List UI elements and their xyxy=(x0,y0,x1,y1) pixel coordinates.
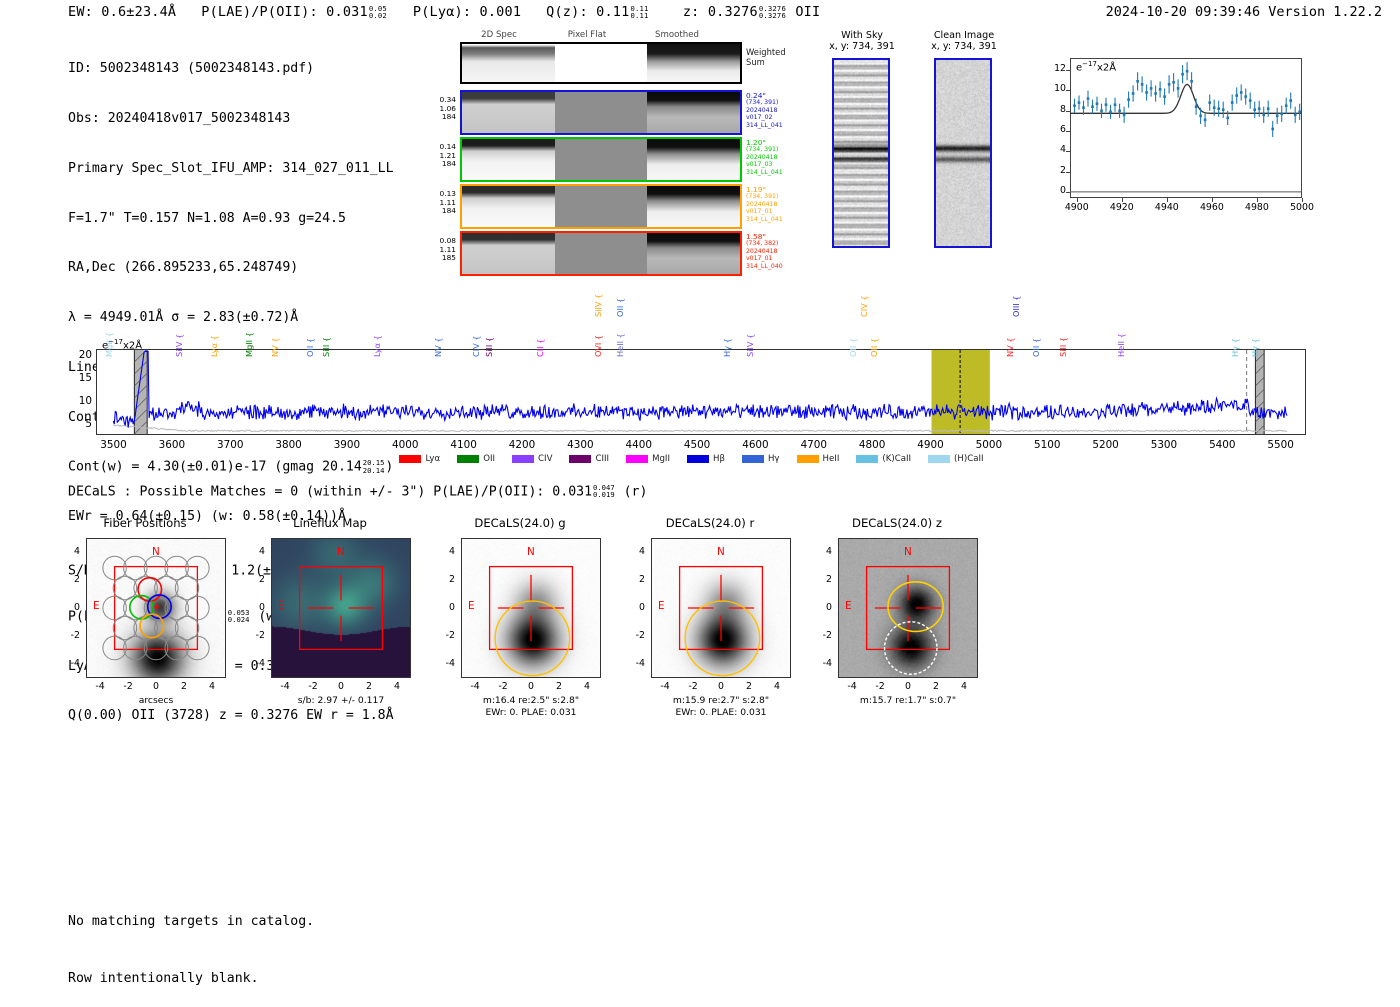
zoomplot-xtick: 4960 xyxy=(1192,202,1232,213)
spec2d-row-meta: 1.58"(734, 382)20240418v017_01314_LL_040 xyxy=(746,233,802,270)
zoomplot-ytick: 2 xyxy=(1040,165,1066,176)
legend-label: Lyα xyxy=(425,454,440,464)
spec2d-row-stats: 0.141.21184 xyxy=(428,143,456,169)
panel-caption-1: s/b: 2.97 +/- 0.117 xyxy=(246,695,436,706)
spec2d-row xyxy=(460,90,742,135)
clean-image xyxy=(936,60,990,246)
compass-east: E xyxy=(468,600,475,612)
spectrum-xtick: 4400 xyxy=(617,439,661,451)
spectrum-xtick: 5200 xyxy=(1084,439,1128,451)
legend-swatch xyxy=(626,455,648,463)
legend-label: OII xyxy=(483,454,495,464)
emission-line-label: NV { xyxy=(433,337,443,357)
legend-swatch xyxy=(457,455,479,463)
compass-north: N xyxy=(904,546,912,558)
panel-ytick: 2 xyxy=(64,574,80,585)
panel-caption-1: m:16.4 re:2.5" s:2.8" xyxy=(436,695,626,706)
legend-entry: CIV xyxy=(512,454,552,464)
panel-caption-2: EWr: 0. PLAE: 0.031 xyxy=(436,707,626,718)
compass-east: E xyxy=(845,600,852,612)
panel-xtick: 0 xyxy=(713,681,729,692)
emission-line-label: CIV { xyxy=(471,335,481,357)
spectrum-xtick: 3700 xyxy=(208,439,252,451)
zoomplot-xtick: 4900 xyxy=(1057,202,1097,213)
panel-ytick: 4 xyxy=(64,546,80,557)
emission-line-label: OIII { xyxy=(1011,295,1021,317)
legend-label: HeII xyxy=(823,454,840,464)
panel-xtick: 2 xyxy=(928,681,944,692)
info-primary-spec: Primary Spec_Slot_IFU_AMP: 314_027_011_L… xyxy=(68,161,394,178)
panel-title: DECaLS(24.0) g xyxy=(435,516,605,530)
panel-xtick: -2 xyxy=(872,681,888,692)
panel-image[interactable] xyxy=(651,538,791,678)
spectrum-xtick: 3600 xyxy=(150,439,194,451)
panel-xtick: -2 xyxy=(120,681,136,692)
header-plae-label: P(LAE)/P(OII): xyxy=(201,4,318,20)
emission-line-zoom-plot: e−17x2Å 02468101249004920494049604980500… xyxy=(1034,52,1306,228)
zoomplot-ytick: 12 xyxy=(1040,63,1066,74)
emission-line-label: SiII { xyxy=(321,337,331,357)
panel-overlay xyxy=(462,539,600,677)
panel-ytick: -2 xyxy=(629,630,645,641)
panel-image[interactable] xyxy=(461,538,601,678)
panel-ytick: -2 xyxy=(816,630,832,641)
compass-north: N xyxy=(152,546,160,558)
zoomplot-xtick: 4940 xyxy=(1147,202,1187,213)
zoomplot-ytick: 8 xyxy=(1040,104,1066,115)
emission-line-label: OII { xyxy=(615,298,625,317)
panel-xtick: 0 xyxy=(333,681,349,692)
col-header-smoothed: Smoothed xyxy=(638,30,716,40)
legend-swatch xyxy=(742,455,764,463)
spectrum-xtick: 3900 xyxy=(325,439,369,451)
panel-image[interactable] xyxy=(838,538,978,678)
panel-xtick: 4 xyxy=(956,681,972,692)
legend-swatch xyxy=(687,455,709,463)
spectrum-xtick: 4900 xyxy=(909,439,953,451)
spec2d-row-stats: 0.131.11184 xyxy=(428,190,456,216)
panel-xtick: -2 xyxy=(305,681,321,692)
emission-line-label: SiII { xyxy=(484,337,494,357)
spectrum-xtick: 4700 xyxy=(792,439,836,451)
panel-xtick: -4 xyxy=(657,681,673,692)
emission-line-label: OII { xyxy=(848,338,858,357)
info-obs: Obs: 20240418v017_5002348143 xyxy=(68,111,394,128)
compass-east: E xyxy=(93,600,100,612)
panel-xtick: 0 xyxy=(523,681,539,692)
emission-line-label: NV { xyxy=(270,337,280,357)
spec2d-row-meta: 1.20"(734, 391)20240418v017_03314_LL_041 xyxy=(746,139,802,176)
full-spectrum-plot: e−17x2Å MgII {SiIV {Lyα {MgII {NV {OII {… xyxy=(0,276,1400,472)
panel-ytick: 0 xyxy=(249,602,265,613)
legend-swatch xyxy=(797,455,819,463)
panel-xtick: 4 xyxy=(389,681,405,692)
panel-xtick: 4 xyxy=(769,681,785,692)
with-sky-title: With Sky xyxy=(818,30,906,41)
panel-xtick: -4 xyxy=(844,681,860,692)
panel-ytick: 4 xyxy=(439,546,455,557)
legend-label: CIII xyxy=(595,454,609,464)
header-plae-value: 0.031 xyxy=(326,4,368,20)
panel-ytick: 2 xyxy=(816,574,832,585)
panel-overlay xyxy=(87,539,225,677)
spectrum-xtick: 5300 xyxy=(1142,439,1186,451)
decals-matches-text: DECaLS : Possible Matches = 0 (within +/… xyxy=(68,484,592,499)
panel-image[interactable] xyxy=(86,538,226,678)
legend-entry: HeII xyxy=(797,454,840,464)
panel-overlay xyxy=(839,539,977,677)
weighted-sum-label: Weighted Sum xyxy=(746,48,800,67)
with-sky-image xyxy=(834,60,888,246)
panel-ytick: 4 xyxy=(629,546,645,557)
spectrum-xtick: 4100 xyxy=(442,439,486,451)
emission-line-label: SiII { xyxy=(1058,337,1068,357)
decals-panel-1: Lineflux MapNE420-2-4-4-2024s/b: 2.97 +/… xyxy=(245,516,425,716)
legend-entry: (H)CaII xyxy=(928,454,984,464)
zoomplot-ytick: 4 xyxy=(1040,144,1066,155)
spectrum-xtick: 4600 xyxy=(733,439,777,451)
spectrum-xtick: 3800 xyxy=(267,439,311,451)
spectrum-ytick: 15 xyxy=(66,372,92,384)
spectrum-xtick: 4300 xyxy=(558,439,602,451)
compass-north: N xyxy=(337,546,345,558)
spec2d-row-stats: 0.341.06184 xyxy=(428,96,456,122)
panel-ytick: 0 xyxy=(816,602,832,613)
legend-swatch xyxy=(512,455,534,463)
panel-xtick: -4 xyxy=(277,681,293,692)
zoomplot-ytick: 6 xyxy=(1040,124,1066,135)
panel-title: Fiber Positions xyxy=(60,516,230,530)
cutout-clean-image: Clean Image x, y: 734, 391 xyxy=(920,30,1008,252)
emission-line-label: SiIV { xyxy=(174,334,184,357)
panel-caption-1: m:15.7 re:1.7" s:0.7" xyxy=(813,695,1003,706)
legend-label: (K)CaII xyxy=(882,454,911,464)
header-z-range: 0.32760.3276 xyxy=(759,5,786,20)
col-header-2dspec: 2D Spec xyxy=(460,30,538,40)
legend-entry: Lyα xyxy=(399,454,440,464)
emission-line-label: MgII { xyxy=(244,332,254,357)
panel-xtick: 2 xyxy=(741,681,757,692)
emission-line-label: Hγ { xyxy=(1250,338,1260,357)
col-header-pixelflat: Pixel Flat xyxy=(548,30,626,40)
zoomplot-ytick: 10 xyxy=(1040,83,1066,94)
panel-image[interactable] xyxy=(271,538,411,678)
panel-ytick: 0 xyxy=(629,602,645,613)
panel-ytick: -4 xyxy=(629,658,645,669)
panel-xtick: 2 xyxy=(551,681,567,692)
panel-ytick: -2 xyxy=(439,630,455,641)
legend-label: Hβ xyxy=(713,454,725,464)
emission-line-label: HeII { xyxy=(615,333,625,357)
emission-line-label: OII { xyxy=(305,338,315,357)
emission-line-label: Lyα { xyxy=(372,335,382,357)
zoomplot-xtick: 5000 xyxy=(1282,202,1322,213)
info-id: ID: 5002348143 (5002348143.pdf) xyxy=(68,61,394,78)
header-qz: Q(z): 0.11 xyxy=(546,4,629,20)
clean-image-coords: x, y: 734, 391 xyxy=(920,41,1008,52)
legend-entry: CIII xyxy=(569,454,609,464)
spectrum-xtick: 5400 xyxy=(1200,439,1244,451)
panel-ytick: 2 xyxy=(249,574,265,585)
spectrum-ytick: 5 xyxy=(66,418,92,430)
emission-line-label: OII { xyxy=(869,338,879,357)
emission-line-label: Lyα { xyxy=(209,335,219,357)
panel-xlabel: arcsecs xyxy=(61,695,251,706)
spectrum-flux-units: e−17x2Å xyxy=(102,338,142,351)
footer-line-2: Row intentionally blank. xyxy=(68,969,314,988)
zoomplot-ytick: 0 xyxy=(1040,185,1066,196)
spec2d-row-stats: 0.081.11185 xyxy=(428,237,456,263)
panel-ytick: 4 xyxy=(249,546,265,557)
panel-xtick: -4 xyxy=(92,681,108,692)
legend-label: (H)CaII xyxy=(954,454,984,464)
spectrum-ytick: 10 xyxy=(66,395,92,407)
legend-swatch xyxy=(399,455,421,463)
decals-summary-line: DECaLS : Possible Matches = 0 (within +/… xyxy=(68,484,647,499)
compass-east: E xyxy=(278,600,285,612)
emission-line-label: OVI { xyxy=(593,335,603,357)
with-sky-coords: x, y: 734, 391 xyxy=(818,41,906,52)
panel-ytick: -4 xyxy=(816,658,832,669)
decals-panel-3: DECaLS(24.0) rNE420-2-4-4-2024m:15.9 re:… xyxy=(625,516,805,716)
legend-label: MgII xyxy=(652,454,670,464)
spec2d-row xyxy=(460,184,742,229)
weighted-sum-row xyxy=(460,42,742,84)
zoomplot-xtick: 4920 xyxy=(1102,202,1142,213)
footer-line-1: No matching targets in catalog. xyxy=(68,912,314,931)
panel-ytick: 0 xyxy=(439,602,455,613)
header-ew: EW: 0.6±23.4Å xyxy=(68,4,176,20)
panel-ytick: 4 xyxy=(816,546,832,557)
cutout-with-sky: With Sky x, y: 734, 391 xyxy=(818,30,906,252)
panel-xtick: 2 xyxy=(361,681,377,692)
panel-xtick: 4 xyxy=(579,681,595,692)
footer-note: No matching targets in catalog. Row inte… xyxy=(68,874,314,1007)
spectrum-xtick: 4000 xyxy=(383,439,427,451)
spec2d-row xyxy=(460,137,742,182)
panel-caption-2: EWr: 0. PLAE: 0.031 xyxy=(626,707,816,718)
legend-label: CIV xyxy=(538,454,552,464)
panel-ytick: -4 xyxy=(64,658,80,669)
compass-east: E xyxy=(658,600,665,612)
zoomplot-xtick: 4980 xyxy=(1237,202,1277,213)
decals-panel-4: DECaLS(24.0) zNE420-2-4-4-2024m:15.7 re:… xyxy=(812,516,992,716)
compass-north: N xyxy=(527,546,535,558)
panel-xtick: 0 xyxy=(900,681,916,692)
decals-plae-range: 0.0470.019 xyxy=(593,484,615,499)
header-summary-line: EW: 0.6±23.4Å P(LAE)/P(OII): 0.0310.050.… xyxy=(68,4,820,20)
info-radec: RA,Dec (266.895233,65.248749) xyxy=(68,260,394,277)
emission-line-label: NV { xyxy=(1005,337,1015,357)
spectrum-xtick: 5500 xyxy=(1259,439,1303,451)
spectrum-ytick: 20 xyxy=(66,349,92,361)
spec2d-montage: 2D Spec Pixel Flat Smoothed Weighted Sum… xyxy=(436,30,766,255)
panel-ytick: -2 xyxy=(249,630,265,641)
legend-entry: MgII xyxy=(626,454,670,464)
panel-xtick: 0 xyxy=(148,681,164,692)
header-plya: P(Lyα): 0.001 xyxy=(413,4,521,20)
header-z: z: 0.3276 xyxy=(683,4,758,20)
panel-xtick: -2 xyxy=(495,681,511,692)
legend-swatch xyxy=(928,455,950,463)
spec2d-row-meta: 1.19"(734, 391)20240418v017_01314_LL_041 xyxy=(746,186,802,223)
header-z-type: OII xyxy=(795,4,820,20)
header-qz-range: 0.110.11 xyxy=(630,5,648,20)
emission-line-label: SiIV { xyxy=(745,334,755,357)
panel-title: DECaLS(24.0) r xyxy=(625,516,795,530)
spectrum-legend: LyαOIICIVCIIIMgIIHβHγHeII(K)CaII(H)CaII xyxy=(0,454,1400,465)
clean-image-title: Clean Image xyxy=(920,30,1008,41)
decals-panel-0: Fiber PositionsNE420-2-4-4-2024arcsecs xyxy=(60,516,240,716)
spectrum-xtick: 4500 xyxy=(675,439,719,451)
spectrum-xtick: 5100 xyxy=(1025,439,1069,451)
panel-ytick: 0 xyxy=(64,602,80,613)
emission-line-label: OII { xyxy=(1031,338,1041,357)
legend-swatch xyxy=(569,455,591,463)
panel-ytick: -2 xyxy=(64,630,80,641)
decals-panel-2: DECaLS(24.0) gNE420-2-4-4-2024m:16.4 re:… xyxy=(435,516,615,716)
panel-title: Lineflux Map xyxy=(245,516,415,530)
info-seeing: F=1.7" T=0.157 N=1.08 A=0.93 g=24.5 xyxy=(68,211,394,228)
legend-swatch xyxy=(856,455,878,463)
spec2d-row-meta: 0.24"(734, 391)20240418v017_02314_LL_041 xyxy=(746,92,802,129)
emission-line-label: Hγ { xyxy=(1230,338,1240,357)
spectrum-xtick: 4800 xyxy=(850,439,894,451)
panel-overlay xyxy=(272,539,410,677)
emission-line-label: CII { xyxy=(535,339,545,357)
panel-xtick: 2 xyxy=(176,681,192,692)
emission-line-label: HeII { xyxy=(1116,333,1126,357)
panel-xtick: 4 xyxy=(204,681,220,692)
compass-north: N xyxy=(717,546,725,558)
panel-overlay xyxy=(652,539,790,677)
spectrum-xtick: 3500 xyxy=(92,439,136,451)
spectrum-xtick: 5000 xyxy=(967,439,1011,451)
timestamp-version: 2024-10-20 09:39:46 Version 1.22.2 xyxy=(1106,4,1382,20)
legend-label: Hγ xyxy=(768,454,780,464)
legend-entry: Hβ xyxy=(687,454,725,464)
spectrum-axes xyxy=(96,349,1306,435)
legend-entry: Hγ xyxy=(742,454,780,464)
panel-ytick: 2 xyxy=(629,574,645,585)
panel-ytick: 2 xyxy=(439,574,455,585)
panel-xtick: -2 xyxy=(685,681,701,692)
panel-ytick: -4 xyxy=(439,658,455,669)
legend-entry: OII xyxy=(457,454,495,464)
decals-band: (r) xyxy=(624,484,648,499)
panel-xtick: -4 xyxy=(467,681,483,692)
spectrum-xtick: 4200 xyxy=(500,439,544,451)
emission-line-label: CIV { xyxy=(859,295,869,317)
header-plae-range: 0.050.02 xyxy=(369,5,387,20)
legend-entry: (K)CaII xyxy=(856,454,911,464)
panel-caption-1: m:15.9 re:2.7" s:2.8" xyxy=(626,695,816,706)
emission-line-label: SiIV { xyxy=(593,294,603,317)
panel-title: DECaLS(24.0) z xyxy=(812,516,982,530)
panel-ytick: -4 xyxy=(249,658,265,669)
emission-line-label: Hγ { xyxy=(722,338,732,357)
spec2d-row xyxy=(460,231,742,276)
